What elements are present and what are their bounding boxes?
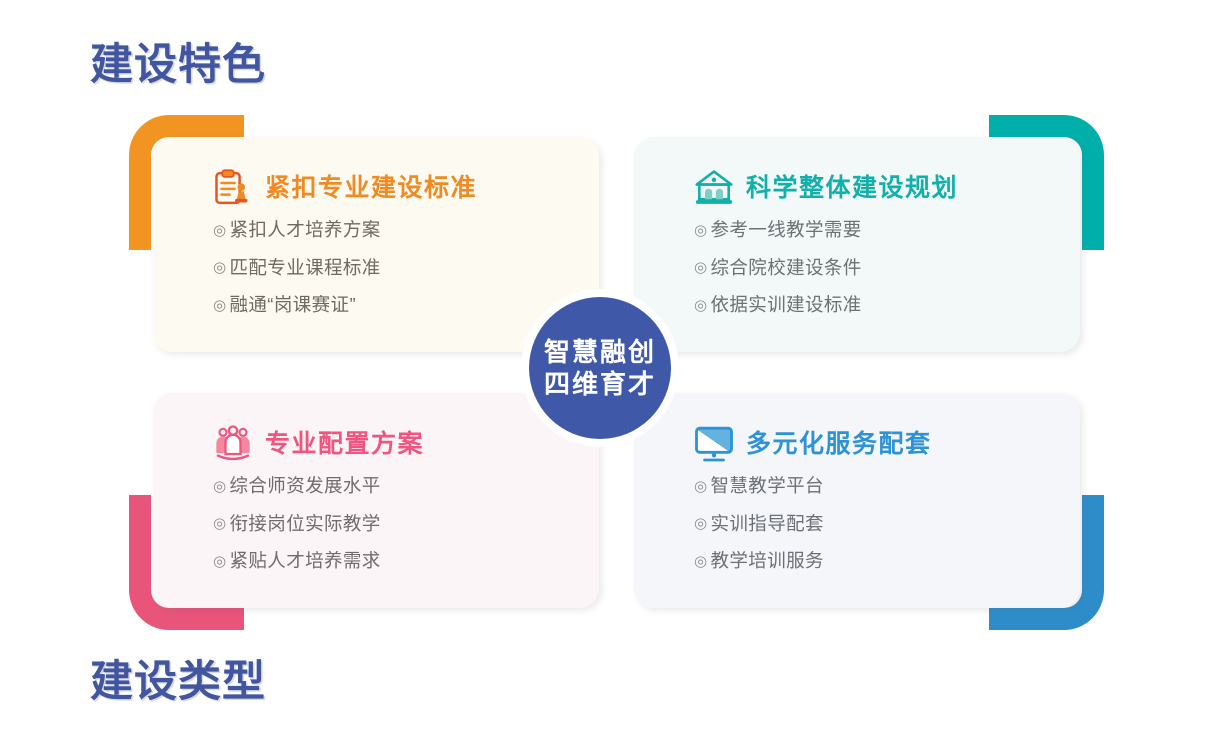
bullet-text: 智慧教学平台 (711, 477, 824, 496)
section-title-bottom: 建设类型 (90, 661, 266, 704)
bullet-icon: ◎ (694, 298, 708, 313)
bullet-text: 衔接岗位实际教学 (230, 515, 381, 534)
card-2-header: 科学整体建设规划 (694, 169, 1080, 207)
clipboard-stamp-icon (213, 169, 253, 207)
card-3-body[interactable]: 专业配置方案 ◎综合师资发展水平 ◎衔接岗位实际教学 ◎紧贴人才培养需求 (153, 393, 599, 608)
bank-building-icon (694, 169, 734, 207)
bullet-icon: ◎ (694, 516, 708, 531)
feature-card-4[interactable]: 多元化服务配套 ◎智慧教学平台 ◎实训指导配套 ◎教学培训服务 (634, 393, 1080, 608)
bullet-text: 综合师资发展水平 (230, 477, 381, 496)
card-2-body[interactable]: 科学整体建设规划 ◎参考一线教学需要 ◎综合院校建设条件 ◎依据实训建设标准 (634, 137, 1080, 352)
card-4-title: 多元化服务配套 (746, 432, 932, 457)
bullet-icon: ◎ (213, 298, 227, 313)
bullet-text: 参考一线教学需要 (711, 221, 862, 240)
center-hub-line-2: 四维育才 (544, 371, 656, 397)
monitor-screen-icon (694, 425, 734, 463)
bullet-text: 匹配专业课程标准 (230, 259, 381, 278)
card-4-bullet-2: ◎教学培训服务 (694, 552, 1080, 571)
people-group-icon (213, 425, 253, 463)
bullet-icon: ◎ (694, 479, 708, 494)
bullet-icon: ◎ (694, 260, 708, 275)
card-4-body[interactable]: 多元化服务配套 ◎智慧教学平台 ◎实训指导配套 ◎教学培训服务 (634, 393, 1080, 608)
bullet-icon: ◎ (213, 260, 227, 275)
center-hub: 智慧融创 四维育才 (521, 289, 679, 447)
card-1-header: 紧扣专业建设标准 (213, 169, 599, 207)
card-1-body[interactable]: 紧扣专业建设标准 ◎紧扣人才培养方案 ◎匹配专业课程标准 ◎融通“岗课赛证” (153, 137, 599, 352)
center-hub-line-1: 智慧融创 (544, 339, 656, 365)
card-3-bullet-list: ◎综合师资发展水平 ◎衔接岗位实际教学 ◎紧贴人才培养需求 (213, 477, 599, 571)
bullet-icon: ◎ (694, 223, 708, 238)
card-3-bullet-1: ◎衔接岗位实际教学 (213, 515, 599, 534)
card-1-title: 紧扣专业建设标准 (265, 176, 477, 201)
card-1-bullet-1: ◎匹配专业课程标准 (213, 259, 599, 278)
section-title-top: 建设特色 (90, 44, 266, 87)
bullet-text: 依据实训建设标准 (711, 296, 862, 315)
bullet-text: 紧扣人才培养方案 (230, 221, 381, 240)
bullet-icon: ◎ (694, 554, 708, 569)
card-4-bullet-0: ◎智慧教学平台 (694, 477, 1080, 496)
card-4-header: 多元化服务配套 (694, 425, 1080, 463)
bullet-text: 教学培训服务 (711, 552, 824, 571)
card-4-bullet-1: ◎实训指导配套 (694, 515, 1080, 534)
bullet-icon: ◎ (213, 479, 227, 494)
feature-card-1[interactable]: 紧扣专业建设标准 ◎紧扣人才培养方案 ◎匹配专业课程标准 ◎融通“岗课赛证” (153, 137, 599, 352)
bullet-icon: ◎ (213, 223, 227, 238)
card-3-header: 专业配置方案 (213, 425, 599, 463)
card-2-title: 科学整体建设规划 (746, 176, 958, 201)
bullet-text: 融通“岗课赛证” (230, 296, 357, 315)
feature-card-3[interactable]: 专业配置方案 ◎综合师资发展水平 ◎衔接岗位实际教学 ◎紧贴人才培养需求 (153, 393, 599, 608)
card-2-bullet-1: ◎综合院校建设条件 (694, 259, 1080, 278)
center-hub-disc: 智慧融创 四维育才 (529, 297, 671, 439)
card-3-title: 专业配置方案 (265, 432, 424, 457)
bullet-icon: ◎ (213, 554, 227, 569)
card-1-bullet-list: ◎紧扣人才培养方案 ◎匹配专业课程标准 ◎融通“岗课赛证” (213, 221, 599, 315)
bullet-text: 实训指导配套 (711, 515, 824, 534)
feature-card-2[interactable]: 科学整体建设规划 ◎参考一线教学需要 ◎综合院校建设条件 ◎依据实训建设标准 (634, 137, 1080, 352)
bullet-text: 综合院校建设条件 (711, 259, 862, 278)
card-3-bullet-2: ◎紧贴人才培养需求 (213, 552, 599, 571)
card-3-bullet-0: ◎综合师资发展水平 (213, 477, 599, 496)
card-1-bullet-0: ◎紧扣人才培养方案 (213, 221, 599, 240)
card-4-bullet-list: ◎智慧教学平台 ◎实训指导配套 ◎教学培训服务 (694, 477, 1080, 571)
card-2-bullet-2: ◎依据实训建设标准 (694, 296, 1080, 315)
card-2-bullet-0: ◎参考一线教学需要 (694, 221, 1080, 240)
card-2-bullet-list: ◎参考一线教学需要 ◎综合院校建设条件 ◎依据实训建设标准 (694, 221, 1080, 315)
bullet-text: 紧贴人才培养需求 (230, 552, 381, 571)
card-1-bullet-2: ◎融通“岗课赛证” (213, 296, 599, 315)
bullet-icon: ◎ (213, 516, 227, 531)
